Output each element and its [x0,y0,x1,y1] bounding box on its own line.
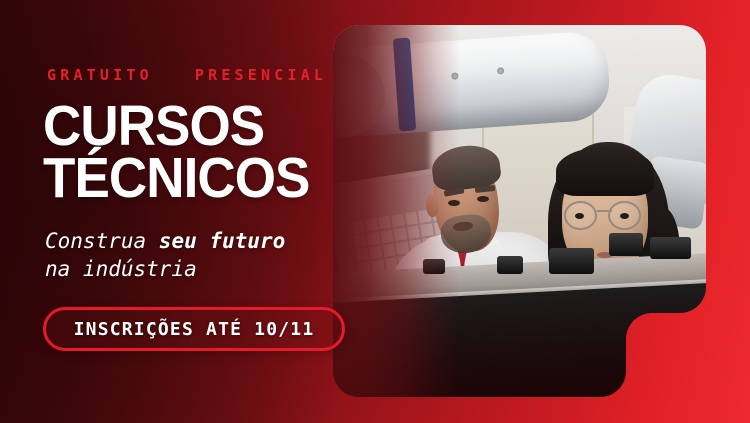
subheadline: Construa seu futuro na indústria [45,228,285,283]
student-glasses-bridge [597,210,612,212]
headline-line-2: TÉCNICOS [43,152,309,204]
page-title: CURSOS TÉCNICOS [43,100,309,205]
student-hand [656,364,699,397]
bench-tool-block [650,237,691,259]
subhead-prefix: Construa [45,229,159,253]
arm-screw-icon [451,72,458,79]
bench-tool-block [497,256,523,275]
bench-tool-block [423,259,445,274]
instructor-ear [426,194,439,217]
photo-panel: SENAI SENAI [333,25,706,397]
student-fringe [556,147,654,195]
eyebrow-tags: GRATUITO PRESENCIAL [47,66,327,84]
tag-presencial: PRESENCIAL [195,66,327,84]
photo-scene: SENAI SENAI [333,25,706,397]
enrollment-deadline-label: INSCRIÇÕES ATÉ 10/11 [74,319,315,340]
workbench-shadow [333,282,706,397]
enrollment-deadline-badge[interactable]: INSCRIÇÕES ATÉ 10/11 [43,307,345,351]
promo-banner: SENAI SENAI [0,0,750,423]
bench-tool-block [609,233,643,255]
arm-screw-icon [497,67,504,74]
text-content: GRATUITO PRESENCIAL CURSOS TÉCNICOS Cons… [43,0,373,423]
bench-tool-block [549,248,594,274]
student-eye-right [620,213,629,219]
tag-gratuito: GRATUITO [47,66,153,84]
subhead-emphasis: seu futuro [159,229,285,253]
subhead-line-2: na indústria [45,257,197,281]
student-arm [647,299,706,397]
